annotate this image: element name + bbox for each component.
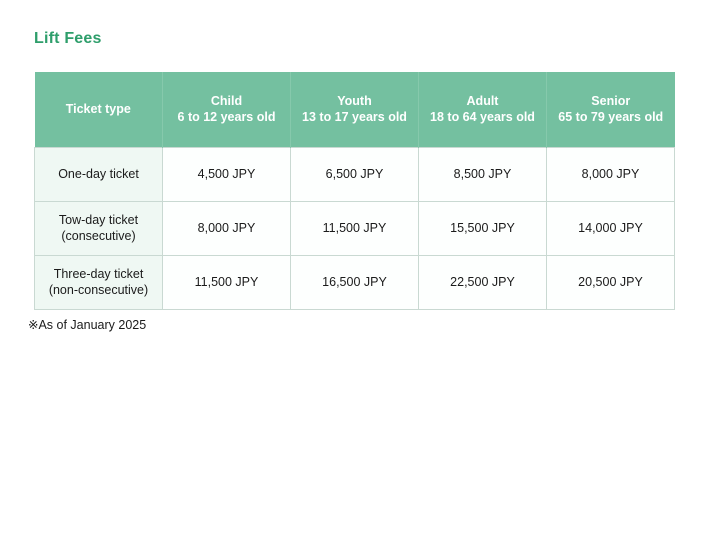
- price-cell-child: 11,500 JPY: [163, 255, 291, 309]
- price-cell-youth: 16,500 JPY: [291, 255, 419, 309]
- price-cell-adult: 8,500 JPY: [419, 147, 547, 201]
- table-row: Tow-day ticket (consecutive) 8,000 JPY 1…: [35, 201, 675, 255]
- column-header-title: Youth: [297, 93, 412, 109]
- column-header-title: Senior: [553, 93, 669, 109]
- lift-fees-table-container: Ticket type Child 6 to 12 years old Yout…: [34, 72, 674, 310]
- price-cell-senior: 8,000 JPY: [547, 147, 675, 201]
- row-label-line2: (non-consecutive): [41, 282, 156, 298]
- price-cell-child: 8,000 JPY: [163, 201, 291, 255]
- price-cell-child: 4,500 JPY: [163, 147, 291, 201]
- column-header-title: Adult: [425, 93, 540, 109]
- column-header-subtitle: 18 to 64 years old: [425, 109, 540, 125]
- row-label-line1: One-day ticket: [41, 166, 156, 182]
- header-row: Ticket type Child 6 to 12 years old Yout…: [35, 72, 675, 147]
- row-label-cell: Tow-day ticket (consecutive): [35, 201, 163, 255]
- table-header: Ticket type Child 6 to 12 years old Yout…: [35, 72, 675, 147]
- row-label-cell: Three-day ticket (non-consecutive): [35, 255, 163, 309]
- price-cell-adult: 15,500 JPY: [419, 201, 547, 255]
- lift-fees-table: Ticket type Child 6 to 12 years old Yout…: [34, 72, 675, 310]
- row-label-line1: Tow-day ticket: [41, 212, 156, 228]
- row-label-line2: (consecutive): [41, 228, 156, 244]
- column-header-subtitle: 6 to 12 years old: [169, 109, 284, 125]
- price-cell-senior: 14,000 JPY: [547, 201, 675, 255]
- page-title: Lift Fees: [34, 29, 102, 49]
- column-header-title: Ticket type: [41, 101, 157, 117]
- column-header-title: Child: [169, 93, 284, 109]
- column-header-subtitle: 65 to 79 years old: [553, 109, 669, 125]
- table-body: One-day ticket 4,500 JPY 6,500 JPY 8,500…: [35, 147, 675, 309]
- price-cell-senior: 20,500 JPY: [547, 255, 675, 309]
- price-cell-youth: 6,500 JPY: [291, 147, 419, 201]
- table-row: Three-day ticket (non-consecutive) 11,50…: [35, 255, 675, 309]
- price-cell-youth: 11,500 JPY: [291, 201, 419, 255]
- page-root: Lift Fees Ticket type Child 6 to 1: [0, 0, 720, 540]
- column-header-senior: Senior 65 to 79 years old: [547, 72, 675, 147]
- row-label-line1: Three-day ticket: [41, 266, 156, 282]
- column-header-child: Child 6 to 12 years old: [163, 72, 291, 147]
- column-header-ticket-type: Ticket type: [35, 72, 163, 147]
- footnote-as-of-date: ※As of January 2025: [28, 317, 146, 334]
- table-row: One-day ticket 4,500 JPY 6,500 JPY 8,500…: [35, 147, 675, 201]
- column-header-adult: Adult 18 to 64 years old: [419, 72, 547, 147]
- column-header-subtitle: 13 to 17 years old: [297, 109, 412, 125]
- price-cell-adult: 22,500 JPY: [419, 255, 547, 309]
- column-header-youth: Youth 13 to 17 years old: [291, 72, 419, 147]
- row-label-cell: One-day ticket: [35, 147, 163, 201]
